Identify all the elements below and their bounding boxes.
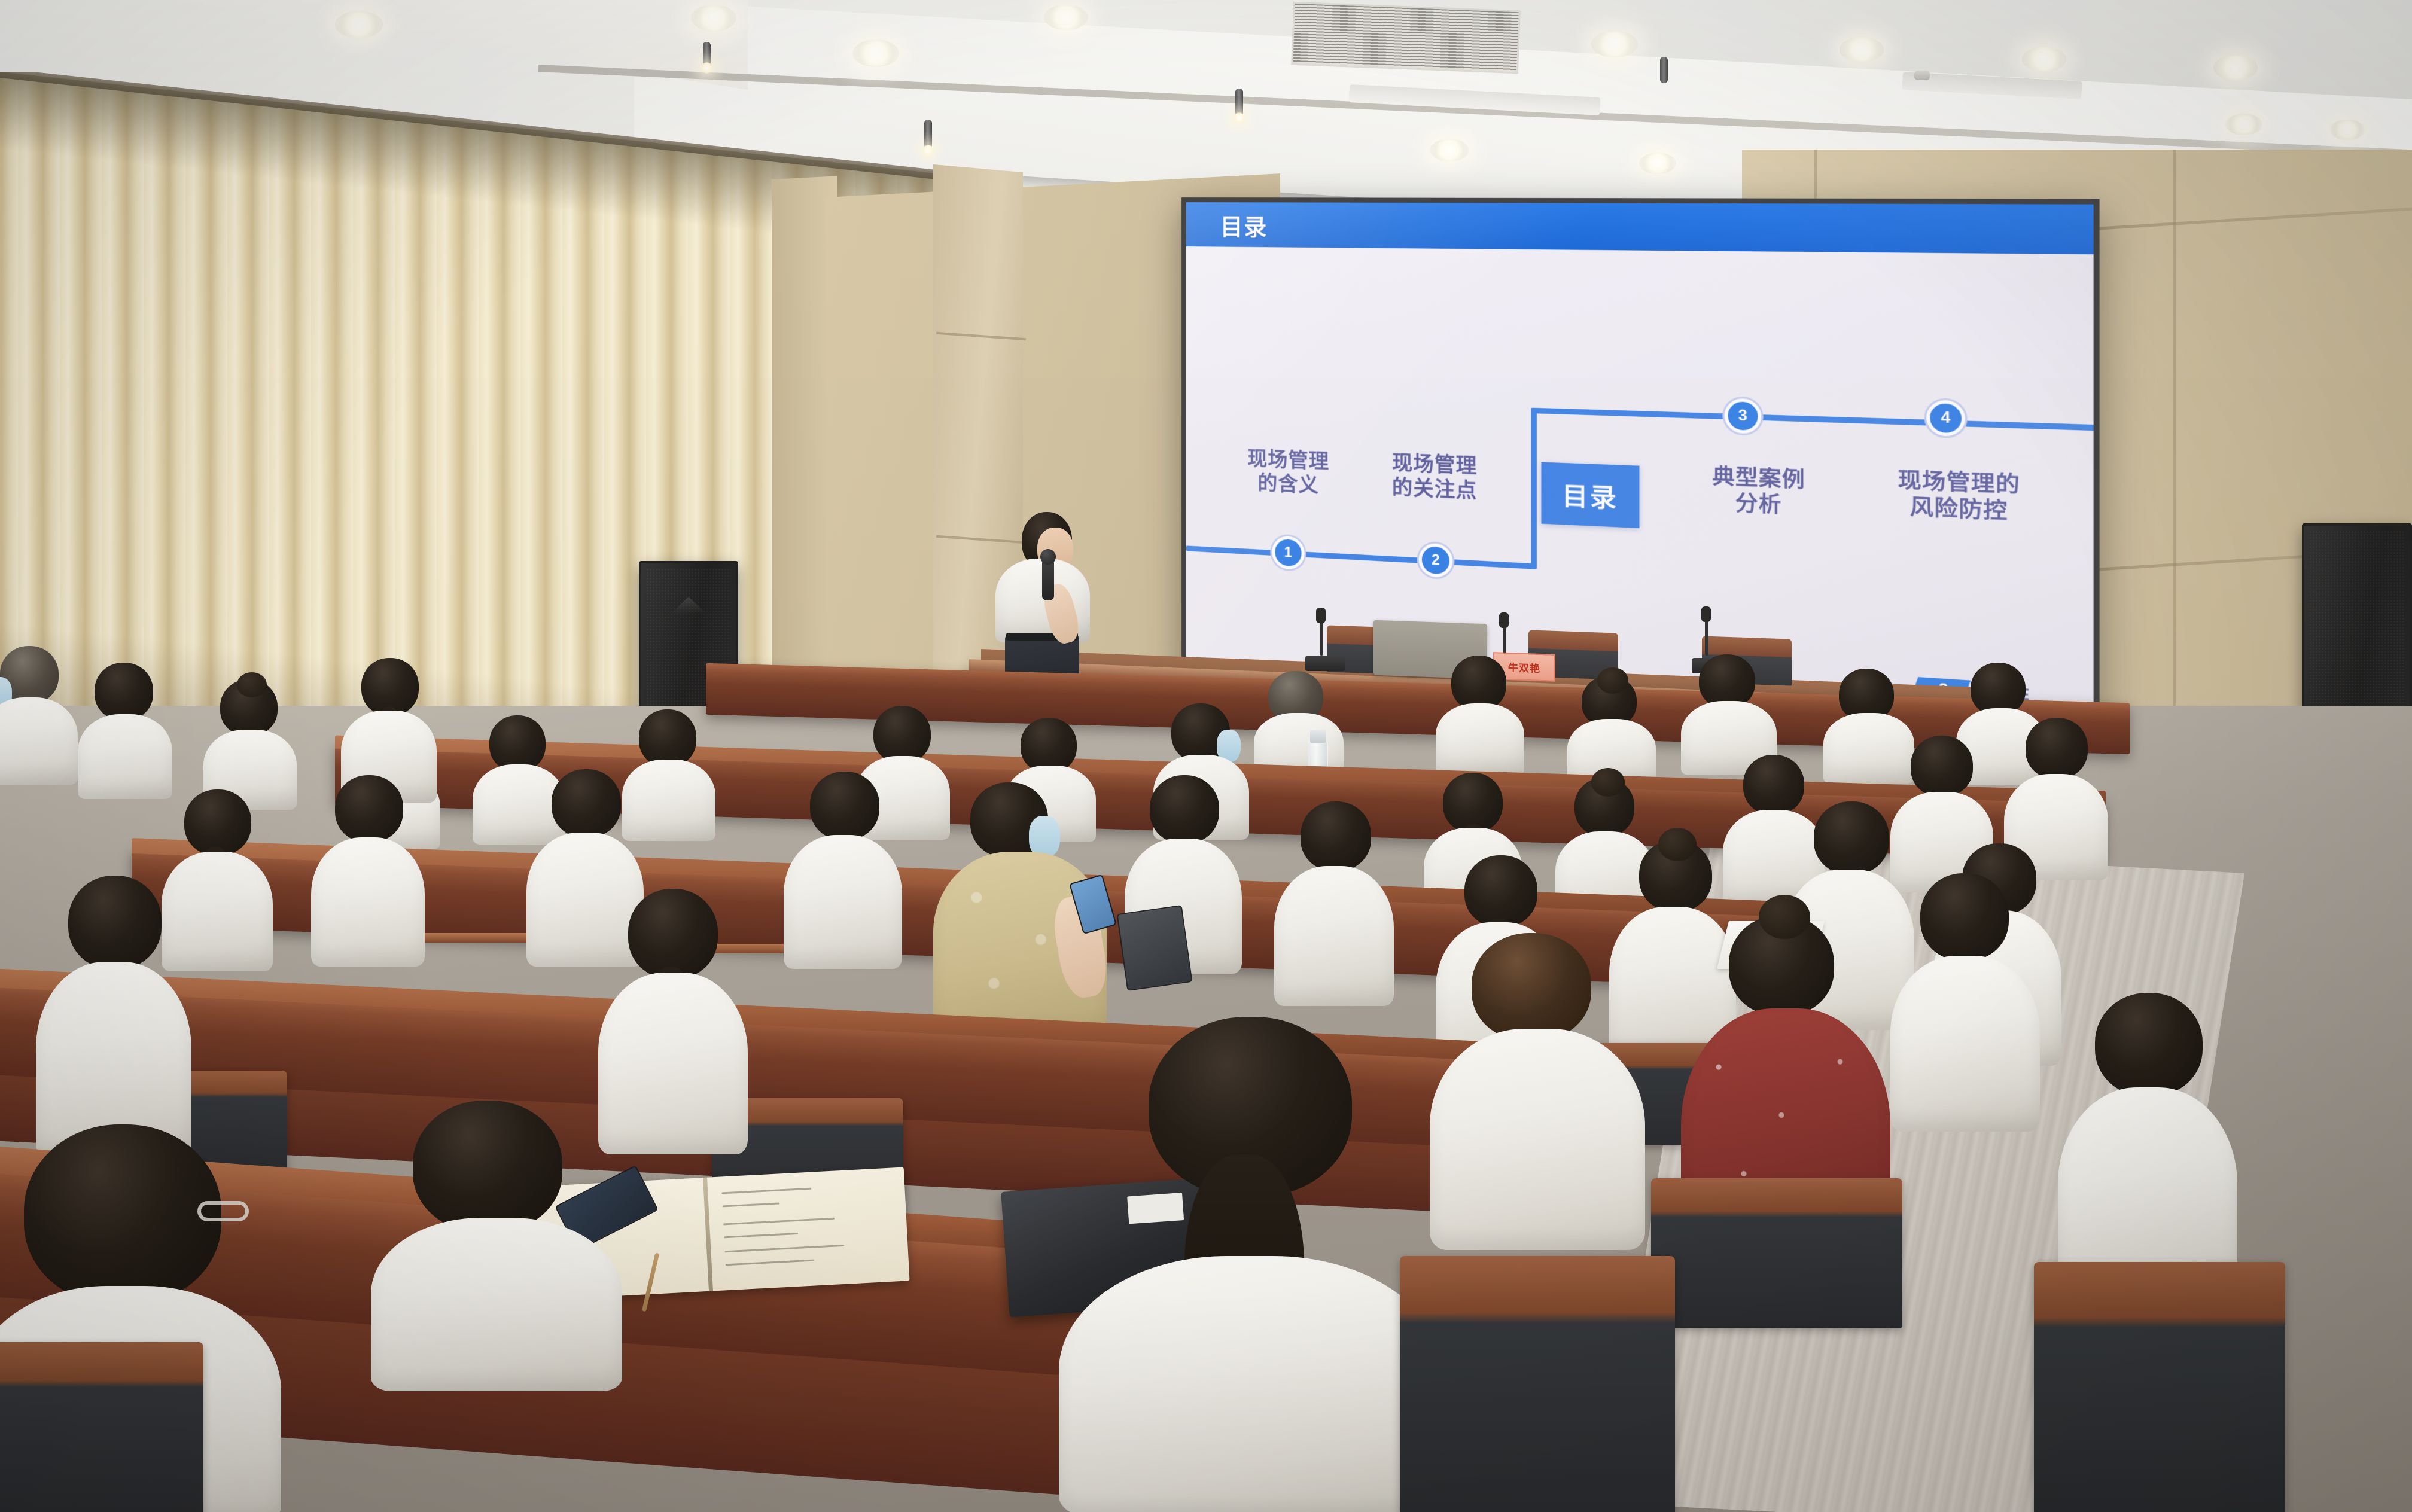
tablet-device [1116,905,1192,991]
audience-head [1443,773,1503,833]
audience-member [78,663,172,798]
audience-shirt [311,837,425,967]
audience-member-masked [0,646,78,784]
smoke-detector [1914,71,1930,80]
audience-shirt [1436,703,1524,775]
step-label-4: 现场管理的 风险防控 [1877,466,2042,526]
notebook-written-line [725,1245,845,1252]
attendee-shirt [371,1218,622,1391]
hvac-vent-grille [1291,2,1521,74]
step-label-1: 现场管理 的含义 [1220,445,1358,499]
foreground-attendee-midleft [371,1101,622,1388]
audience-head [95,663,153,720]
notebook-written-line [721,1188,811,1194]
slide-header-bar: 目录 [1186,202,2094,254]
ceiling-downlight [1430,139,1469,161]
audience-hair-bun [237,672,267,697]
step-node-2: 2 [1419,543,1453,578]
step-node-3: 3 [1725,398,1761,434]
ceiling-downlight [2213,55,2258,80]
audience-shirt [1274,866,1394,1006]
attendee-head [413,1101,562,1232]
ceiling-downlight [1044,5,1088,30]
audience-shirt [1890,956,2040,1132]
audience-member [1254,671,1344,779]
slide-center-label: 目录 [1541,462,1639,529]
audience-hair-bun [1597,667,1628,694]
pendant-track-light [1660,57,1668,83]
microphone-head-icon [1040,549,1056,565]
audience-shirt [78,714,172,799]
audience-head [489,715,546,772]
foreground-attendee-center [1059,1017,1442,1512]
audience-head [2026,718,2088,779]
conference-room-photo: 目录 1 2 3 4 [0,0,2412,1512]
step-node-4: 4 [1926,400,1965,437]
audience-head [1911,736,1973,797]
notebook-written-line [724,1233,798,1238]
audience-head [628,889,718,978]
audience-head [873,706,931,763]
ceiling-downlight [2225,114,2262,135]
audience-head [1971,663,2026,715]
audience-member [311,775,425,967]
audience-head [1301,801,1371,871]
audience-member-beige-top [933,782,1107,1034]
notebook-written-line [723,1202,780,1207]
handheld-microphone [1042,559,1054,600]
audience-hair-bun [1658,828,1697,861]
audience-member [784,772,902,969]
audience-head [552,769,621,837]
audience-head [184,789,251,855]
attendee-head [1472,933,1591,1041]
ceiling-downlight [1591,31,1638,57]
ceiling-downlight [1639,153,1676,174]
microphone-capsule [1499,612,1509,628]
pendant-light-bulb [1234,112,1245,124]
audience-head [335,775,403,842]
step-label-3: 典型案例 分析 [1681,462,1838,521]
audience-shirt [0,697,78,785]
microphone-capsule [1316,608,1326,623]
microphone-base [1305,656,1345,671]
audience-member [1890,873,2040,1130]
audience-head [2095,993,2203,1096]
ceiling-downlight [2330,120,2365,140]
step-line-lower [1186,545,1536,569]
audience-member [1567,676,1656,784]
audience-head [1814,801,1889,874]
notebook-written-line [726,1260,814,1266]
eyeglasses-icon [197,1201,249,1221]
step-node-1: 1 [1272,535,1304,570]
audience-member [2058,993,2237,1304]
step-label-2: 现场管理 的关注点 [1363,449,1507,505]
audience-head [1150,775,1219,843]
attendee-shirt [1059,1256,1442,1512]
chair [1400,1256,1675,1512]
chair [1651,1178,1902,1328]
chair [0,1342,203,1512]
notebook-written-line [723,1218,835,1226]
audience-head [1021,718,1077,773]
audience-head [639,709,696,767]
step-line-upper [1531,408,2093,431]
audience-shirt [784,835,902,969]
audience-head [1920,873,2009,961]
ceiling-downlight [2022,47,2066,72]
slide-title: 目录 [1220,208,1268,242]
step-line-riser [1531,410,1537,569]
audience-head [810,772,879,840]
chair [2034,1262,2285,1512]
attendee-head [24,1124,221,1304]
step-label-3-line2: 分析 [1681,488,1838,521]
ceiling-downlight [852,39,899,67]
ceiling-downlight [335,11,383,38]
audience-hair-bun [1759,895,1810,939]
audience-head [1699,654,1755,708]
foreground-attendee-right [1430,933,1645,1244]
ceiling-downlight [691,5,736,31]
attendee-shirt [1430,1029,1645,1250]
audience-member [36,876,191,1157]
audience-member [1436,656,1524,775]
microphone-capsule [1701,606,1711,622]
audience-head [68,876,162,969]
bottle-cap [1310,730,1326,743]
notebook-spine [703,1178,713,1291]
step-label-1-line2: 的含义 [1220,470,1358,500]
step-label-2-line2: 的关注点 [1363,474,1507,505]
audience-hair-bun [1591,768,1625,797]
audience-member [1274,801,1394,1005]
ceiling-downlight [1840,37,1884,62]
audience-head [1464,855,1537,927]
